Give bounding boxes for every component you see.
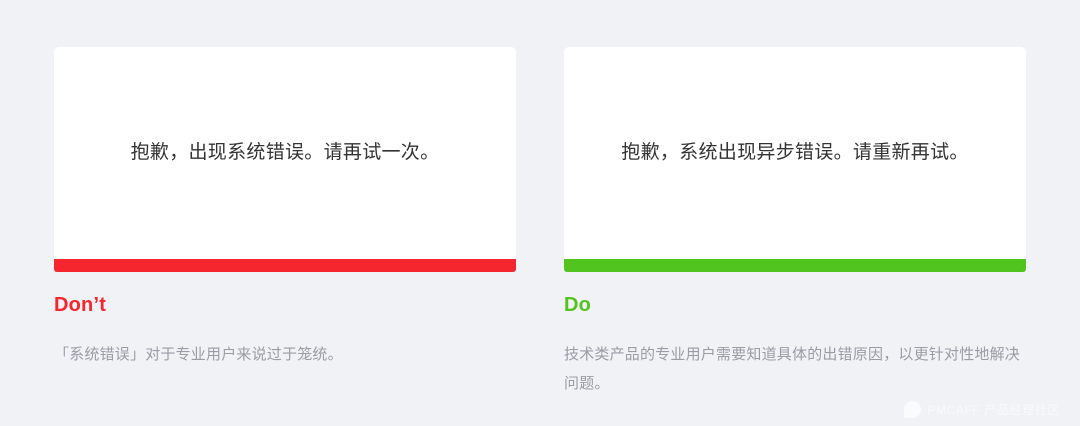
message-card-do: 抱歉，系统出现异步错误。请重新再试。 (564, 47, 1026, 259)
watermark-text: PMCAFF 产品经理社区 (928, 401, 1060, 418)
droplet-logo-icon (904, 401, 921, 418)
card-message-text: 抱歉，系统出现异步错误。请重新再试。 (597, 138, 992, 168)
verdict-label-do: Do (564, 293, 1026, 317)
status-bar-dont (54, 259, 516, 272)
caption-text-do: 技术类产品的专业用户需要知道具体的出错原因，以更针对性地解决问题。 (564, 340, 1026, 398)
status-bar-do (564, 259, 1026, 272)
caption-text-dont: 「系统错误」对于专业用户来说过于笼统。 (54, 340, 516, 369)
comparison-board: 抱歉，出现系统错误。请再试一次。 Don’t 「系统错误」对于专业用户来说过于笼… (0, 0, 1080, 426)
card-message-text: 抱歉，出现系统错误。请再试一次。 (107, 138, 464, 168)
example-panel-dont: 抱歉，出现系统错误。请再试一次。 Don’t 「系统错误」对于专业用户来说过于笼… (54, 47, 516, 369)
message-card-dont: 抱歉，出现系统错误。请再试一次。 (54, 47, 516, 259)
example-panel-do: 抱歉，系统出现异步错误。请重新再试。 Do 技术类产品的专业用户需要知道具体的出… (564, 47, 1026, 398)
watermark: PMCAFF 产品经理社区 (904, 401, 1060, 418)
verdict-label-dont: Don’t (54, 293, 516, 317)
